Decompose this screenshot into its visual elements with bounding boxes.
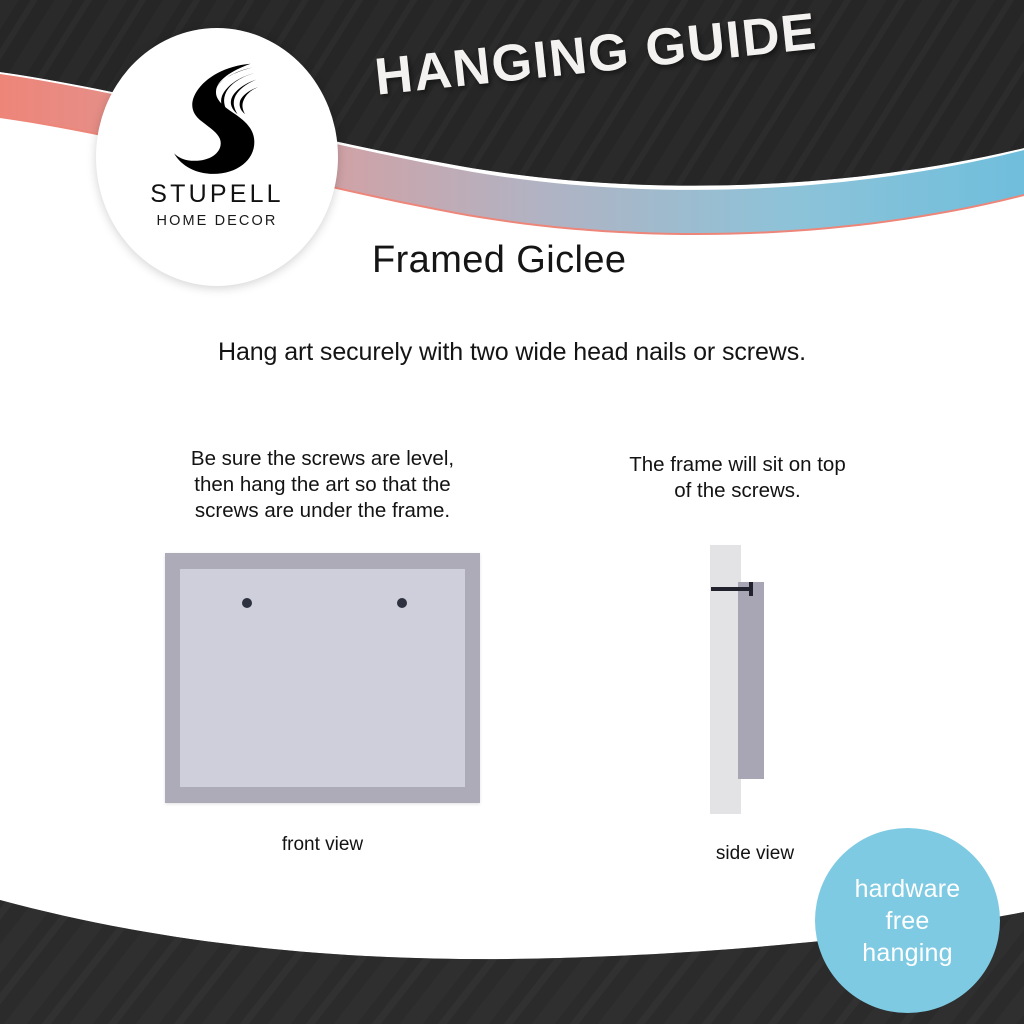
side-view-frame-shape bbox=[738, 582, 764, 779]
brand-logo-badge: STUPELL HOME DECOR bbox=[96, 28, 338, 286]
side-caption-line-1: The frame will sit on top bbox=[585, 452, 890, 478]
badge-line-1: hardware bbox=[855, 873, 961, 905]
nail-icon bbox=[711, 587, 752, 591]
front-view-frame-diagram bbox=[165, 553, 480, 803]
side-view-caption: The frame will sit on top of the screws. bbox=[585, 452, 890, 504]
front-view-caption: Be sure the screws are level, then hang … bbox=[150, 446, 495, 524]
screw-dot-left-icon bbox=[242, 598, 252, 608]
hardware-free-hanging-badge: hardware free hanging bbox=[815, 828, 1000, 1013]
brand-tagline: HOME DECOR bbox=[157, 213, 278, 229]
hanging-guide-page: HANGING GUIDE STUPELL HOME DECOR Framed … bbox=[0, 0, 1024, 1024]
front-caption-line-3: screws are under the frame. bbox=[150, 498, 495, 524]
front-caption-line-1: Be sure the screws are level, bbox=[150, 446, 495, 472]
front-view-frame-interior bbox=[180, 569, 465, 787]
front-caption-line-2: then hang the art so that the bbox=[150, 472, 495, 498]
brand-name: STUPELL bbox=[150, 180, 284, 209]
badge-line-3: hanging bbox=[862, 937, 952, 969]
nail-head-icon bbox=[749, 582, 753, 596]
product-type-heading: Framed Giclee bbox=[372, 239, 626, 282]
side-view-diagram bbox=[700, 545, 810, 815]
front-view-label: front view bbox=[165, 834, 480, 856]
side-caption-line-2: of the screws. bbox=[585, 478, 890, 504]
lead-instruction-text: Hang art securely with two wide head nai… bbox=[0, 338, 1024, 367]
stupell-swoosh-logo-icon bbox=[161, 56, 273, 176]
side-view-wall-shape bbox=[710, 545, 741, 814]
screw-dot-right-icon bbox=[397, 598, 407, 608]
badge-line-2: free bbox=[886, 905, 930, 937]
